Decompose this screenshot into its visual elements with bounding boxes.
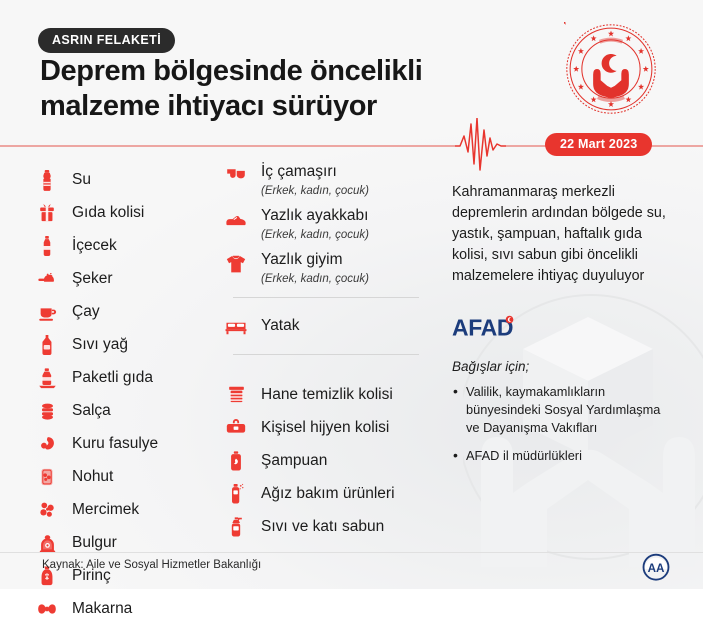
list-item-label: Mercimek	[72, 501, 139, 519]
headline-line-1: Deprem bölgesinde öncelikli	[40, 54, 500, 89]
list-item: Hane temizlik kolisi	[225, 378, 430, 411]
list-item-label: Şeker	[72, 270, 113, 288]
list-item-label: Bulgur	[72, 534, 117, 552]
lentils-icon	[36, 498, 58, 522]
list-item: Nohut	[36, 460, 211, 493]
list-item: Kişisel hijyen kolisi	[225, 411, 430, 444]
source-credit: Kaynak: Aile ve Sosyal Hizmetler Bakanlı…	[42, 559, 261, 571]
list-item-label: Yatak	[261, 317, 300, 335]
tomato-paste-icon	[36, 399, 58, 423]
list-item-sublabel: (Erkek, kadın, çocuk)	[261, 229, 369, 241]
list-item: Bulgur	[36, 526, 211, 559]
cleaning-parcel-icon	[225, 383, 247, 407]
infographic-page: ASRIN FELAKETİ Deprem bölgesinde öncelik…	[0, 0, 703, 589]
list-item-label: İç çamaşırı	[261, 163, 337, 180]
water-bottle-icon	[36, 168, 58, 192]
list-item: Kuru fasulye	[36, 427, 211, 460]
list-item: AFAD il müdürlükleri	[452, 447, 667, 465]
list-item: Valilik, kaymakamlıkların bünyesindeki S…	[452, 383, 667, 437]
tshirt-icon	[225, 251, 247, 279]
shampoo-bottle-icon	[225, 449, 247, 473]
list-item: Salça	[36, 394, 211, 427]
food-items-column: Su Gıda kolisi İçecek Şeker Çay	[36, 163, 211, 625]
chickpeas-icon	[36, 465, 58, 489]
summary-column: Kahramanmaraş merkezli depremlerin ardın…	[452, 182, 667, 474]
list-item: Mercimek	[36, 493, 211, 526]
bulgur-icon	[36, 531, 58, 555]
bed-icon	[225, 314, 247, 338]
list-item-label: Kuru fasulye	[72, 435, 158, 453]
ministry-emblem-icon	[564, 22, 658, 116]
category-badge: ASRIN FELAKETİ	[38, 28, 175, 53]
section-divider-top	[233, 297, 419, 298]
beverage-bottle-icon	[36, 234, 58, 258]
list-item-label: Yazlık giyim	[261, 251, 343, 268]
list-item-label: İçecek	[72, 237, 117, 255]
dry-beans-icon	[36, 432, 58, 456]
sugar-scoop-icon	[36, 267, 58, 291]
list-item-label: Sıvı yağ	[72, 336, 128, 354]
list-item: Şeker	[36, 262, 211, 295]
soap-dispenser-icon	[225, 515, 247, 539]
list-item: Ağız bakım ürünleri	[225, 477, 430, 510]
list-item-sublabel: (Erkek, kadın, çocuk)	[261, 185, 369, 197]
list-item: Yazlık ayakkabı (Erkek, kadın, çocuk)	[225, 207, 430, 243]
summer-shoe-icon	[225, 207, 247, 235]
list-item: İçecek	[36, 229, 211, 262]
list-item-label: Paketli gıda	[72, 369, 153, 387]
list-item-label: Ağız bakım ürünleri	[261, 485, 395, 503]
list-item: Makarna	[36, 592, 211, 625]
section-divider-bottom	[233, 354, 419, 355]
donations-heading: Bağışlar için;	[452, 359, 667, 374]
donation-channels-list: Valilik, kaymakamlıkların bünyesindeki S…	[452, 383, 667, 465]
oil-bottle-icon	[36, 333, 58, 357]
list-item: İç çamaşırı (Erkek, kadın, çocuk)	[225, 163, 430, 199]
list-item: Sıvı ve katı sabun	[225, 510, 430, 543]
list-item: Sıvı yağ	[36, 328, 211, 361]
list-item: Gıda kolisi	[36, 196, 211, 229]
list-item-sublabel: (Erkek, kadın, çocuk)	[261, 273, 369, 285]
svg-text:AFAD: AFAD	[452, 315, 513, 341]
page-title: Deprem bölgesinde öncelikli malzeme ihti…	[40, 54, 500, 125]
list-item: Yatak	[225, 308, 430, 344]
list-item: Çay	[36, 295, 211, 328]
list-item: Yazlık giyim (Erkek, kadın, çocuk)	[225, 251, 430, 287]
afad-wordmark-icon: AFAD	[452, 313, 544, 343]
date-badge: 22 Mart 2023	[545, 133, 652, 156]
hygiene-kit-icon	[225, 416, 247, 440]
list-item: Paketli gıda	[36, 361, 211, 394]
anadolu-agency-logo-icon: AA	[639, 553, 673, 583]
list-item-label: Sıvı ve katı sabun	[261, 518, 384, 536]
footer-divider	[0, 552, 703, 553]
svg-text:AA: AA	[648, 562, 665, 575]
list-item-label: Su	[72, 171, 91, 189]
list-item-label: Hane temizlik kolisi	[261, 386, 393, 404]
list-item-label: Gıda kolisi	[72, 204, 144, 222]
supplies-column: İç çamaşırı (Erkek, kadın, çocuk) Yazlık…	[225, 163, 430, 543]
food-parcel-icon	[36, 201, 58, 225]
list-item: Su	[36, 163, 211, 196]
tea-cup-icon	[36, 300, 58, 324]
list-item-label: Salça	[72, 402, 111, 420]
list-item-label: Nohut	[72, 468, 113, 486]
list-item-label: Kişisel hijyen kolisi	[261, 419, 389, 437]
list-item-label: Yazlık ayakkabı	[261, 207, 368, 224]
list-item: Şampuan	[225, 444, 430, 477]
oral-care-icon	[225, 482, 247, 506]
summary-text: Kahramanmaraş merkezli depremlerin ardın…	[452, 182, 667, 287]
list-item-label: Çay	[72, 303, 100, 321]
pasta-icon	[36, 597, 58, 621]
list-item-label: Şampuan	[261, 452, 327, 470]
afad-logo: AFAD	[452, 313, 667, 343]
underwear-icon	[225, 163, 247, 191]
list-item-label: Makarna	[72, 600, 132, 618]
packaged-food-icon	[36, 366, 58, 390]
